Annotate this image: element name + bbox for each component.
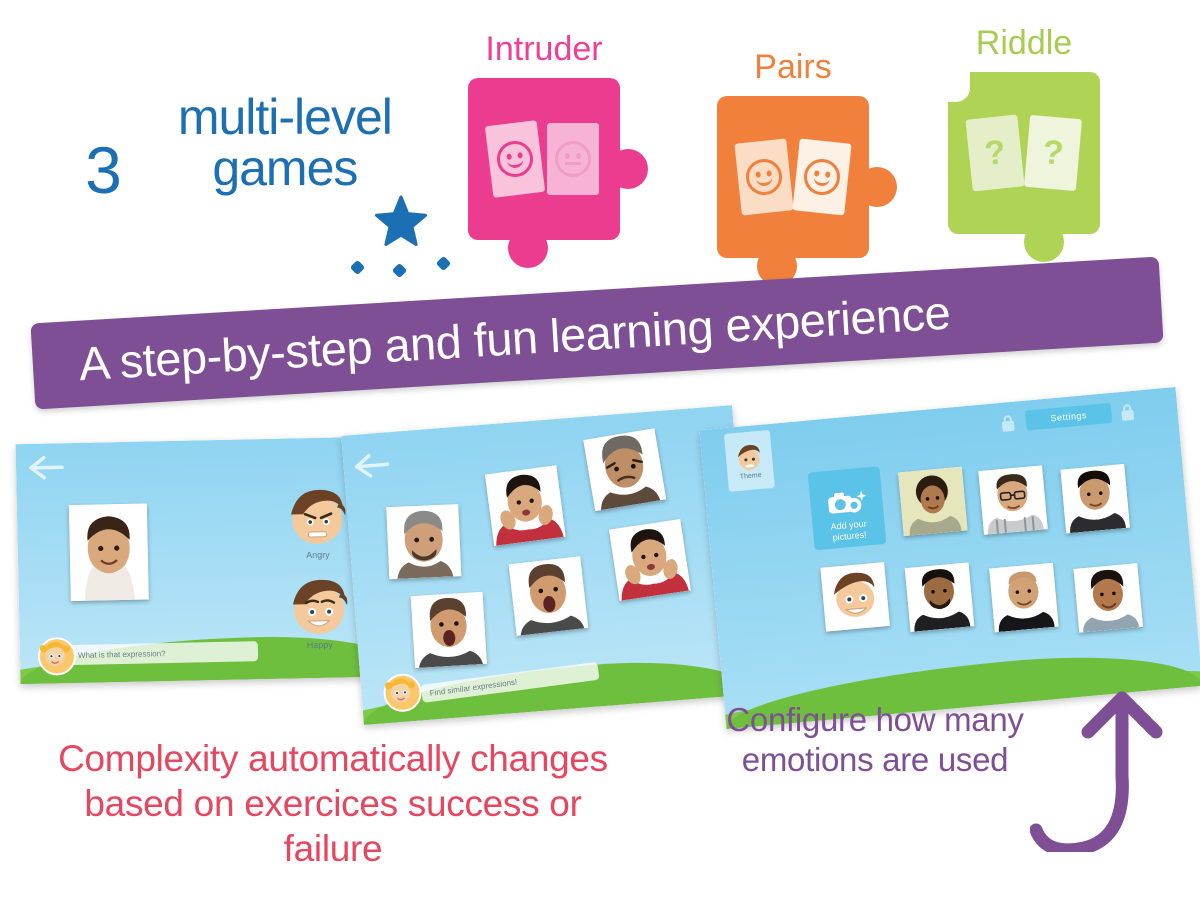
pair-tile[interactable]	[583, 428, 666, 511]
theme-card-label: Theme	[740, 471, 762, 480]
headline-text: multi-level games	[135, 92, 435, 194]
pair-tile[interactable]	[609, 519, 691, 601]
star-icon	[375, 195, 427, 247]
smiley-face-icon	[744, 157, 784, 197]
gallery-tile[interactable]	[978, 465, 1048, 535]
pair-tile[interactable]	[411, 592, 487, 668]
pair-tile[interactable]	[386, 504, 461, 579]
prompt-bubble: What is that expression?	[70, 641, 258, 665]
gallery-tile[interactable]	[1060, 464, 1130, 534]
game-icon-intruder	[468, 78, 620, 240]
dot-icon	[350, 260, 366, 276]
back-arrow-icon[interactable]	[351, 450, 393, 481]
game-label-pairs: Pairs	[717, 48, 869, 87]
glasses-man-photo	[978, 465, 1048, 535]
puzzle-piece-shape: ? ?	[948, 72, 1100, 234]
game-label-intruder: Intruder	[468, 30, 620, 69]
gallery-tile[interactable]	[820, 562, 890, 632]
pair-tile[interactable]	[509, 556, 589, 636]
target-face-photo[interactable]	[69, 503, 149, 601]
add-pictures-button[interactable]: Add your pictures!	[808, 466, 887, 550]
smiley-face-icon	[495, 139, 535, 179]
decorative-dots	[352, 258, 462, 274]
card-neutral	[547, 123, 599, 195]
tagline-banner: A step-by-step and fun learning experien…	[30, 257, 1163, 410]
headline-count: 3	[85, 137, 121, 204]
choice-label-happy: Happy	[278, 639, 362, 651]
dark-hair-man-photo	[1060, 464, 1130, 534]
afro-man-photo	[898, 467, 968, 537]
smiley-face-icon	[802, 157, 842, 197]
puzzle-piece-shape	[468, 78, 620, 240]
gallery-tile[interactable]	[898, 467, 968, 537]
game-icon-riddle: ? ?	[948, 72, 1100, 234]
card-question: ?	[965, 114, 1024, 191]
back-arrow-icon[interactable]	[26, 453, 67, 482]
add-pictures-label: Add your pictures!	[812, 517, 886, 544]
card-smiley	[485, 120, 545, 198]
padlock-icon[interactable]	[1119, 403, 1137, 422]
dot-icon	[392, 263, 408, 279]
smiling-man-photo	[69, 503, 149, 601]
gallery-tile[interactable]	[989, 563, 1059, 633]
tagline-text: A step-by-step and fun learning experien…	[77, 285, 951, 392]
theme-card[interactable]: Theme	[724, 430, 775, 492]
game-icon-pairs	[717, 96, 869, 258]
gallery-tile[interactable]	[905, 562, 975, 632]
man-shouting-duplicate	[509, 556, 589, 636]
neutral-face-icon	[555, 141, 591, 177]
man-shouting	[411, 592, 487, 668]
puzzle-piece-shape	[717, 96, 869, 258]
cartoon-boy-face	[820, 562, 890, 632]
smiling-woman-photo	[1073, 563, 1143, 633]
game-card-intruder[interactable]: Intruder	[468, 78, 620, 240]
boy-face-icon	[731, 441, 768, 474]
caption-configure: Configure how many emotions are used	[700, 700, 1050, 781]
gallery-tile[interactable]	[1073, 563, 1143, 633]
game-card-riddle[interactable]: Riddle ? ?	[948, 72, 1100, 234]
card-question: ?	[1024, 115, 1082, 191]
choice-happy[interactable]: Happy	[276, 573, 362, 649]
settings-label: Settings	[1050, 410, 1087, 423]
curved-up-arrow-icon	[1030, 672, 1190, 852]
game-card-pairs[interactable]: Pairs	[717, 96, 869, 258]
app-screenshot-pairs[interactable]: Find similar expressions!	[341, 405, 755, 725]
card-smiley	[734, 138, 793, 215]
woman-hands-up-duplicate	[609, 519, 691, 601]
caption-complexity: Complexity automatically changes based o…	[48, 736, 618, 871]
pair-tile[interactable]	[485, 465, 566, 546]
bald-man-photo	[989, 563, 1059, 633]
camera-icon	[825, 487, 867, 519]
woman-hands-up-surprised	[485, 465, 566, 546]
headline: 3multi-level games	[60, 92, 460, 204]
prompt-text: What is that expression?	[78, 649, 166, 660]
bearded-man-photo	[905, 562, 975, 632]
man-grey-beard-neutral	[386, 504, 461, 579]
dot-icon	[436, 256, 452, 272]
padlock-icon[interactable]	[999, 414, 1017, 433]
man-dark-hair-angry	[583, 428, 666, 511]
happy-boy-face-icon	[276, 573, 361, 639]
card-smiley	[792, 138, 851, 215]
poster-canvas: 3multi-level games Intruder	[0, 0, 1200, 900]
game-label-riddle: Riddle	[948, 24, 1100, 63]
choice-label-angry: Angry	[276, 549, 360, 561]
